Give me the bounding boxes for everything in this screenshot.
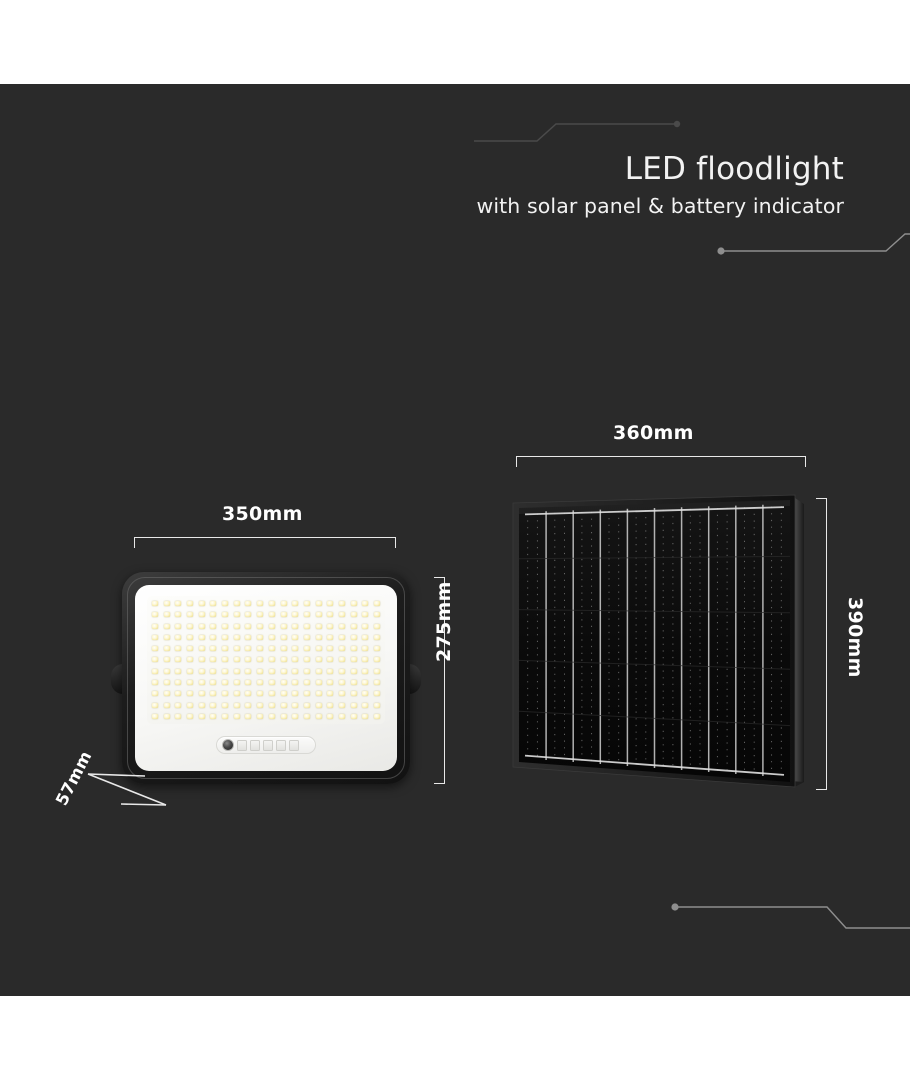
led-diode (222, 669, 228, 674)
led-diode (316, 669, 322, 674)
led-diode (210, 635, 216, 640)
led-diode (292, 624, 298, 629)
solar-height-label: 390mm (844, 597, 866, 707)
led-diode (245, 635, 251, 640)
led-diode (245, 680, 251, 685)
led-diode (245, 601, 251, 606)
led-diode (292, 680, 298, 685)
led-diode (245, 703, 251, 708)
led-diode (164, 646, 170, 651)
led-diode (304, 624, 310, 629)
led-diode (339, 646, 345, 651)
led-diode (187, 669, 193, 674)
battery-segment (250, 740, 260, 751)
led-diode (292, 714, 298, 719)
led-diode (304, 601, 310, 606)
led-diode (152, 657, 158, 662)
led-diode (281, 646, 287, 651)
led-diode (199, 669, 205, 674)
led-diode (292, 657, 298, 662)
led-diode (222, 714, 228, 719)
led-diode (327, 657, 333, 662)
led-diode (351, 680, 357, 685)
led-diode (269, 657, 275, 662)
led-diode (327, 680, 333, 685)
led-diode (222, 612, 228, 617)
led-diode (281, 612, 287, 617)
led-array (147, 596, 385, 724)
led-diode (362, 669, 368, 674)
led-diode (327, 635, 333, 640)
led-diode (304, 657, 310, 662)
led-diode (316, 691, 322, 696)
led-diode (281, 669, 287, 674)
led-diode (351, 669, 357, 674)
led-diode (269, 646, 275, 651)
led-diode (245, 624, 251, 629)
solar-height-bracket (816, 498, 827, 790)
solar-panel-graphic (495, 480, 825, 810)
led-diode (210, 601, 216, 606)
floodlight-face (135, 585, 397, 771)
led-diode (187, 646, 193, 651)
led-diode (222, 646, 228, 651)
led-diode (210, 680, 216, 685)
led-diode (316, 680, 322, 685)
led-diode (362, 691, 368, 696)
led-diode (374, 601, 380, 606)
led-diode (351, 601, 357, 606)
led-diode (351, 657, 357, 662)
led-diode (281, 680, 287, 685)
led-diode (269, 635, 275, 640)
led-diode (362, 680, 368, 685)
led-diode (234, 714, 240, 719)
led-diode (222, 657, 228, 662)
led-diode (187, 624, 193, 629)
led-diode (327, 601, 333, 606)
led-diode (210, 657, 216, 662)
led-diode (269, 714, 275, 719)
led-diode (234, 646, 240, 651)
led-diode (199, 612, 205, 617)
led-diode (234, 691, 240, 696)
led-diode (257, 657, 263, 662)
led-diode (187, 691, 193, 696)
led-diode (362, 624, 368, 629)
led-diode (222, 601, 228, 606)
battery-segment (263, 740, 273, 751)
led-diode (175, 669, 181, 674)
led-diode (269, 691, 275, 696)
led-diode (269, 612, 275, 617)
led-diode (269, 703, 275, 708)
led-diode (316, 601, 322, 606)
led-diode (175, 646, 181, 651)
led-diode (339, 635, 345, 640)
led-diode (199, 680, 205, 685)
led-diode (210, 612, 216, 617)
battery-segment (289, 740, 299, 751)
led-diode (175, 714, 181, 719)
floodlight-width-label: 350mm (222, 503, 303, 525)
led-diode (304, 669, 310, 674)
led-diode (374, 680, 380, 685)
led-diode (304, 703, 310, 708)
led-diode (175, 680, 181, 685)
light-sensor-icon (222, 739, 234, 751)
led-diode (351, 703, 357, 708)
led-diode (374, 646, 380, 651)
led-diode (152, 635, 158, 640)
led-diode (339, 612, 345, 617)
led-diode (257, 703, 263, 708)
led-diode (304, 680, 310, 685)
led-diode (327, 714, 333, 719)
led-diode (316, 657, 322, 662)
led-diode (327, 612, 333, 617)
led-diode (164, 657, 170, 662)
led-diode (316, 646, 322, 651)
led-diode (339, 669, 345, 674)
led-diode (362, 646, 368, 651)
led-diode (339, 680, 345, 685)
led-diode (316, 703, 322, 708)
led-diode (362, 714, 368, 719)
led-diode (292, 646, 298, 651)
led-diode (316, 635, 322, 640)
led-diode (292, 669, 298, 674)
led-diode (210, 714, 216, 719)
led-diode (292, 612, 298, 617)
led-diode (292, 601, 298, 606)
led-diode (187, 657, 193, 662)
led-diode (374, 691, 380, 696)
led-diode (257, 646, 263, 651)
led-diode (199, 624, 205, 629)
led-diode (245, 669, 251, 674)
led-diode (316, 612, 322, 617)
led-diode (327, 691, 333, 696)
led-diode (292, 703, 298, 708)
solar-width-bracket (516, 456, 806, 467)
led-diode (374, 612, 380, 617)
led-diode (210, 669, 216, 674)
led-diode (327, 624, 333, 629)
led-diode (175, 691, 181, 696)
led-floodlight-product (122, 572, 410, 784)
led-diode (362, 612, 368, 617)
led-diode (269, 624, 275, 629)
led-diode (234, 612, 240, 617)
led-diode (304, 635, 310, 640)
led-diode (281, 703, 287, 708)
led-diode (374, 703, 380, 708)
led-diode (257, 635, 263, 640)
floodlight-width-bracket (134, 537, 396, 548)
led-diode (281, 657, 287, 662)
led-diode (339, 624, 345, 629)
led-diode (257, 691, 263, 696)
led-diode (199, 635, 205, 640)
led-diode (222, 680, 228, 685)
led-diode (374, 657, 380, 662)
led-diode (257, 624, 263, 629)
led-diode (351, 714, 357, 719)
led-diode (175, 601, 181, 606)
led-diode (187, 703, 193, 708)
led-diode (187, 714, 193, 719)
solar-panel-product (495, 480, 825, 810)
led-diode (199, 657, 205, 662)
led-diode (269, 669, 275, 674)
led-diode (222, 691, 228, 696)
led-diode (152, 714, 158, 719)
battery-segment (276, 740, 286, 751)
led-diode (152, 624, 158, 629)
led-diode (187, 612, 193, 617)
led-diode (164, 624, 170, 629)
led-diode (327, 703, 333, 708)
led-diode (362, 601, 368, 606)
led-diode (175, 635, 181, 640)
led-diode (374, 669, 380, 674)
led-diode (351, 624, 357, 629)
led-diode (362, 635, 368, 640)
led-diode (245, 714, 251, 719)
page-subtitle: with solar panel & battery indicator (476, 194, 844, 219)
solar-width-label: 360mm (613, 422, 694, 444)
led-diode (152, 601, 158, 606)
led-diode (210, 646, 216, 651)
led-diode (362, 657, 368, 662)
led-diode (210, 703, 216, 708)
led-diode (327, 669, 333, 674)
led-diode (222, 635, 228, 640)
led-diode (152, 680, 158, 685)
led-diode (269, 680, 275, 685)
led-diode (234, 635, 240, 640)
led-diode (339, 691, 345, 696)
led-diode (152, 669, 158, 674)
led-diode (245, 657, 251, 662)
led-diode (316, 714, 322, 719)
title-block: LED floodlight with solar panel & batter… (476, 152, 844, 218)
led-diode (234, 703, 240, 708)
battery-indicator (216, 736, 316, 754)
led-diode (175, 612, 181, 617)
led-diode (164, 669, 170, 674)
led-diode (164, 612, 170, 617)
led-diode (351, 646, 357, 651)
led-diode (164, 680, 170, 685)
led-diode (281, 635, 287, 640)
led-diode (164, 703, 170, 708)
led-diode (234, 680, 240, 685)
led-diode (199, 601, 205, 606)
led-diode (245, 612, 251, 617)
floodlight-height-label: 275mm (433, 552, 455, 662)
led-diode (257, 669, 263, 674)
led-diode (175, 624, 181, 629)
led-diode (281, 691, 287, 696)
led-diode (374, 624, 380, 629)
led-diode (164, 635, 170, 640)
led-diode (245, 646, 251, 651)
led-diode (351, 691, 357, 696)
led-diode (164, 601, 170, 606)
led-diode (304, 691, 310, 696)
led-diode (234, 601, 240, 606)
led-diode (257, 612, 263, 617)
led-diode (339, 703, 345, 708)
led-diode (199, 646, 205, 651)
led-diode (269, 601, 275, 606)
led-diode (292, 635, 298, 640)
led-diode (257, 601, 263, 606)
led-diode (234, 624, 240, 629)
led-diode (257, 680, 263, 685)
product-spec-sheet: LED floodlight with solar panel & batter… (0, 0, 910, 1080)
led-diode (152, 612, 158, 617)
led-diode (164, 714, 170, 719)
led-diode (175, 703, 181, 708)
led-diode (152, 703, 158, 708)
led-diode (164, 691, 170, 696)
led-diode (351, 635, 357, 640)
led-diode (281, 601, 287, 606)
led-diode (281, 714, 287, 719)
led-diode (222, 703, 228, 708)
led-diode (327, 646, 333, 651)
led-diode (152, 691, 158, 696)
led-diode (222, 624, 228, 629)
led-diode (210, 624, 216, 629)
led-diode (316, 624, 322, 629)
led-diode (234, 669, 240, 674)
led-diode (199, 703, 205, 708)
led-diode (304, 612, 310, 617)
led-diode (245, 691, 251, 696)
led-diode (304, 646, 310, 651)
led-diode (374, 635, 380, 640)
led-diode (234, 657, 240, 662)
page-title: LED floodlight (476, 152, 844, 187)
led-diode (257, 714, 263, 719)
led-diode (362, 703, 368, 708)
led-diode (304, 714, 310, 719)
led-diode (292, 691, 298, 696)
led-diode (187, 635, 193, 640)
led-diode (351, 612, 357, 617)
led-diode (339, 714, 345, 719)
led-diode (187, 680, 193, 685)
battery-segment (237, 740, 247, 751)
led-diode (339, 657, 345, 662)
led-diode (374, 714, 380, 719)
led-diode (199, 714, 205, 719)
led-diode (175, 657, 181, 662)
led-diode (199, 691, 205, 696)
floodlight-housing (122, 572, 410, 784)
led-diode (210, 691, 216, 696)
led-diode (187, 601, 193, 606)
led-diode (281, 624, 287, 629)
led-diode (152, 646, 158, 651)
led-diode (339, 601, 345, 606)
